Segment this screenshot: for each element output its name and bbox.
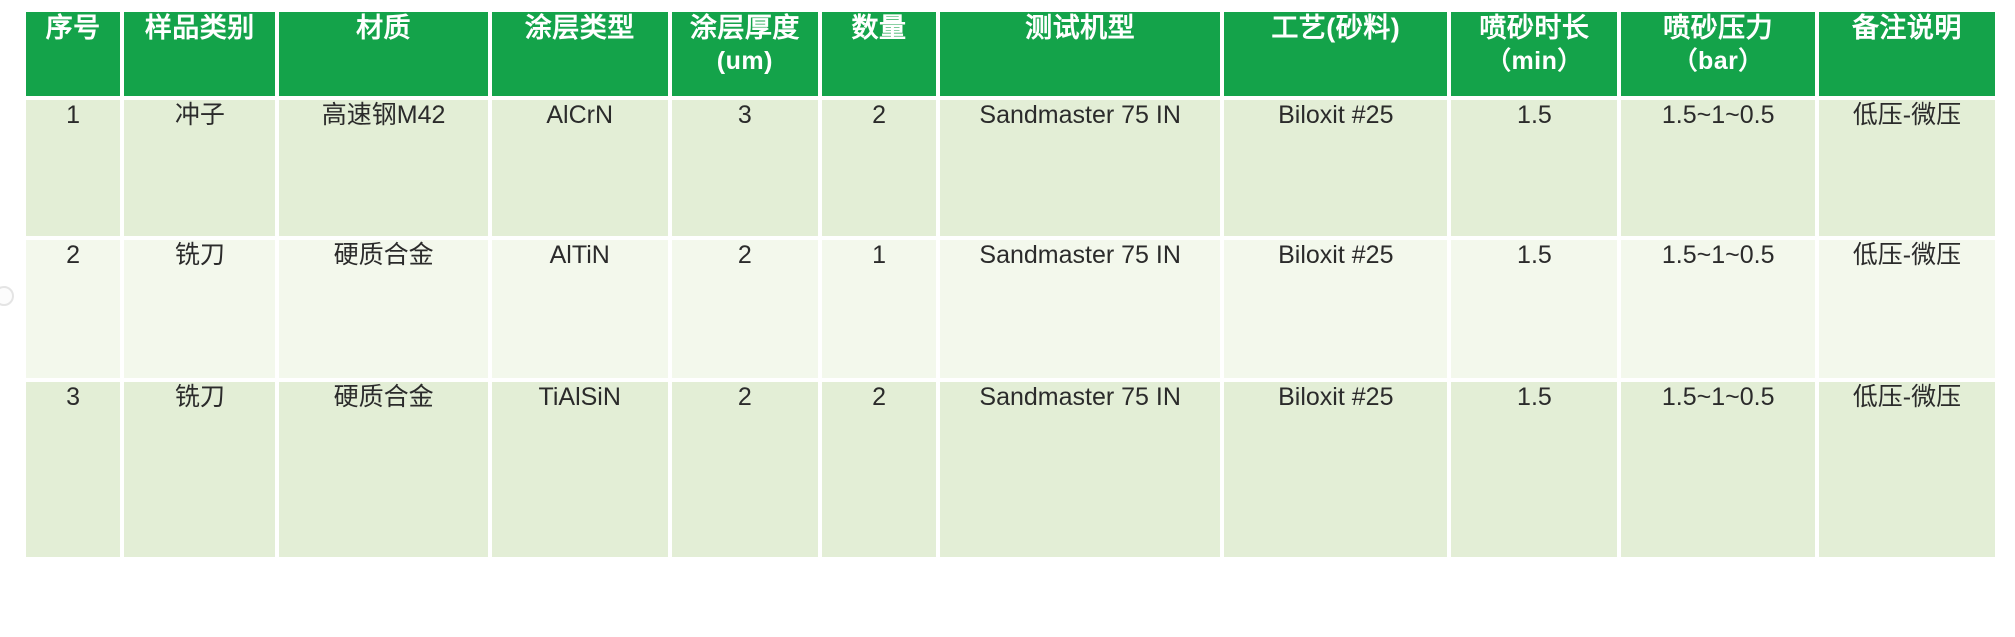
column-header-material-label: 材质 — [356, 13, 411, 43]
column-header-coating-type: 涂层类型 — [492, 12, 668, 96]
cell-coating-thickness: 3 — [672, 100, 818, 236]
spec-sheet: 序号 样品类别 材质 涂层类型 涂层厚度 (um) 数量 — [0, 0, 2015, 637]
column-header-blast-time: 喷砂时长 （min） — [1451, 12, 1617, 96]
cell-blast-pressure: 1.5~1~0.5 — [1621, 240, 1814, 378]
cell-coating-type: AlCrN — [492, 100, 668, 236]
cell-blast-time: 1.5 — [1451, 382, 1617, 557]
cell-remark: 低压-微压 — [1819, 100, 1995, 236]
column-header-material: 材质 — [279, 12, 487, 96]
cell-quantity: 2 — [822, 100, 936, 236]
column-header-remark-label: 备注说明 — [1852, 13, 1962, 43]
column-header-coating-type-label: 涂层类型 — [525, 13, 635, 43]
cell-test-machine: Sandmaster 75 IN — [940, 100, 1220, 236]
cell-material: 高速钢M42 — [279, 100, 487, 236]
blasting-spec-table: 序号 样品类别 材质 涂层类型 涂层厚度 (um) 数量 — [22, 8, 1999, 561]
cell-process-sand: Biloxit #25 — [1224, 382, 1447, 557]
column-header-process-sand: 工艺(砂料) — [1224, 12, 1447, 96]
column-header-test-machine-label: 测试机型 — [1025, 13, 1135, 43]
cell-quantity: 2 — [822, 382, 936, 557]
cell-blast-pressure: 1.5~1~0.5 — [1621, 100, 1814, 236]
column-header-test-machine: 测试机型 — [940, 12, 1220, 96]
column-header-remark: 备注说明 — [1819, 12, 1995, 96]
table-body: 1 冲子 高速钢M42 AlCrN 3 2 Sandmaster 75 IN B… — [26, 100, 1995, 557]
cell-test-machine: Sandmaster 75 IN — [940, 240, 1220, 378]
cell-coating-thickness: 2 — [672, 382, 818, 557]
cell-sample-category: 冲子 — [124, 100, 275, 236]
cell-process-sand: Biloxit #25 — [1224, 100, 1447, 236]
column-header-blast-pressure-label: 喷砂压力 — [1663, 13, 1773, 43]
cell-material: 硬质合金 — [279, 240, 487, 378]
cell-remark: 低压-微压 — [1819, 382, 1995, 557]
page-edge-marker — [0, 286, 14, 306]
cell-index: 1 — [26, 100, 120, 236]
column-header-blast-pressure: 喷砂压力 （bar） — [1621, 12, 1814, 96]
cell-process-sand: Biloxit #25 — [1224, 240, 1447, 378]
cell-sample-category: 铣刀 — [124, 382, 275, 557]
cell-remark: 低压-微压 — [1819, 240, 1995, 378]
cell-coating-type: TiAlSiN — [492, 382, 668, 557]
cell-blast-time: 1.5 — [1451, 100, 1617, 236]
column-header-quantity: 数量 — [822, 12, 936, 96]
column-header-coating-thickness: 涂层厚度 (um) — [672, 12, 818, 96]
cell-blast-pressure: 1.5~1~0.5 — [1621, 382, 1814, 557]
cell-coating-type: AlTiN — [492, 240, 668, 378]
cell-sample-category: 铣刀 — [124, 240, 275, 378]
header-row: 序号 样品类别 材质 涂层类型 涂层厚度 (um) 数量 — [26, 12, 1995, 96]
column-header-index: 序号 — [26, 12, 120, 96]
table-row: 1 冲子 高速钢M42 AlCrN 3 2 Sandmaster 75 IN B… — [26, 100, 1995, 236]
column-header-index-label: 序号 — [46, 13, 101, 43]
cell-index: 2 — [26, 240, 120, 378]
column-header-blast-time-unit: （min） — [1451, 45, 1617, 77]
table-row: 3 铣刀 硬质合金 TiAlSiN 2 2 Sandmaster 75 IN B… — [26, 382, 1995, 557]
column-header-process-sand-label: 工艺(砂料) — [1271, 13, 1400, 43]
column-header-coating-thickness-label: 涂层厚度 — [690, 13, 800, 43]
column-header-blast-pressure-unit: （bar） — [1621, 45, 1814, 77]
cell-material: 硬质合金 — [279, 382, 487, 557]
column-header-sample-category: 样品类别 — [124, 12, 275, 96]
table-row: 2 铣刀 硬质合金 AlTiN 2 1 Sandmaster 75 IN Bil… — [26, 240, 1995, 378]
column-header-quantity-label: 数量 — [852, 13, 907, 43]
column-header-coating-thickness-unit: (um) — [672, 45, 818, 77]
cell-coating-thickness: 2 — [672, 240, 818, 378]
cell-test-machine: Sandmaster 75 IN — [940, 382, 1220, 557]
table-header: 序号 样品类别 材质 涂层类型 涂层厚度 (um) 数量 — [26, 12, 1995, 96]
column-header-blast-time-label: 喷砂时长 — [1479, 13, 1589, 43]
column-header-sample-category-label: 样品类别 — [145, 13, 255, 43]
cell-quantity: 1 — [822, 240, 936, 378]
cell-blast-time: 1.5 — [1451, 240, 1617, 378]
cell-index: 3 — [26, 382, 120, 557]
